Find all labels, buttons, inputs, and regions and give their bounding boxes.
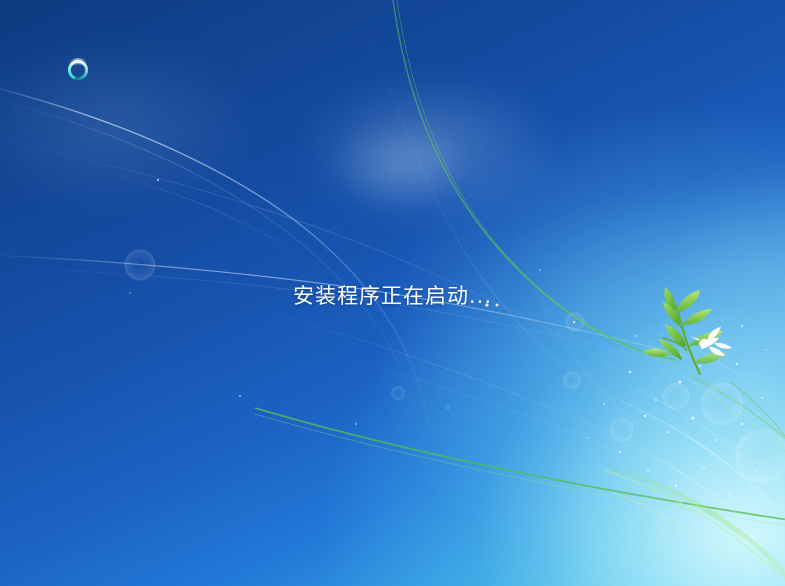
white-hummingbird [690,327,732,356]
setup-boot-screen: 安装程序正在启动... [0,0,785,586]
haze-glow-upper-center [300,75,560,225]
setup-status-text: 安装程序正在启动... [0,283,785,310]
light-streaks-upper [0,0,785,546]
sparkles [129,179,767,513]
busy-ring-icon [64,56,92,84]
haze-glow-upper-left [0,40,260,210]
busy-ring-highlight [68,58,88,71]
light-streaks-lower-right [600,330,785,528]
haze-glow-mid [330,120,470,210]
haze-glow-bottom-right [540,360,785,586]
haze-glow-right-edge [660,150,785,480]
